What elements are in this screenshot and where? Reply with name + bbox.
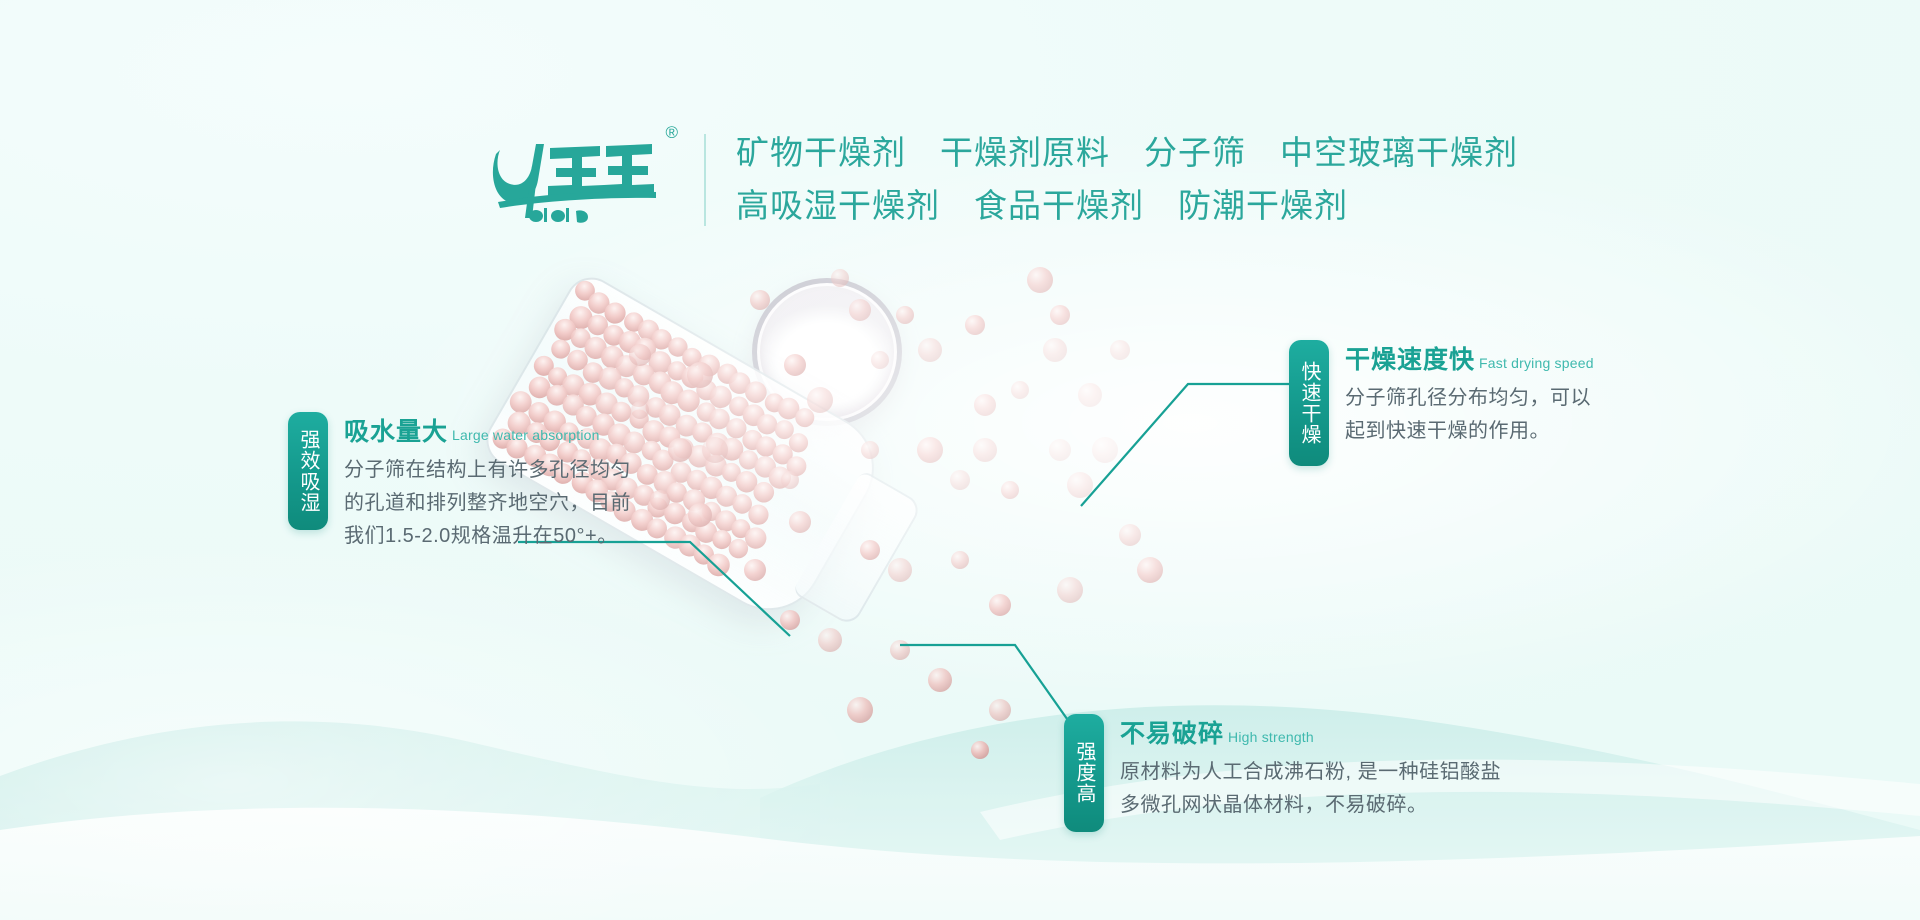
registered-mark: ® [665, 124, 678, 141]
callout-body-line: 的孔道和排列整齐地空穴，目前 [344, 487, 631, 520]
callout-body-line: 我们1.5-2.0规格温升在50°+。 [344, 520, 631, 553]
callout-title-en: Fast drying speed [1479, 355, 1594, 371]
yaao-logo[interactable]: ® [492, 128, 662, 224]
header-divider [704, 134, 706, 226]
callout-title-cn: 吸水量大 [344, 412, 448, 448]
callout-body-line: 多微孔网状晶体材料，不易破碎。 [1120, 789, 1501, 822]
badge-high-strength: 强度高 [1064, 714, 1104, 832]
callout-body-line: 分子筛孔径分布均匀，可以 [1345, 382, 1594, 415]
callout-title-en: Large water absorption [452, 427, 600, 443]
banner-header: ® 矿物干燥剂 干燥剂原料 分子筛 中空玻璃干燥剂 高吸湿干燥剂 食品干燥剂 防… [0, 0, 1920, 260]
callout-body-line: 起到快速干燥的作用。 [1345, 415, 1594, 448]
callout-title-en: High strength [1228, 729, 1314, 745]
logo-mark [492, 128, 662, 224]
header-keywords: 矿物干燥剂 干燥剂原料 分子筛 中空玻璃干燥剂 高吸湿干燥剂 食品干燥剂 防潮干… [736, 126, 1636, 232]
callout-title-cn: 不易破碎 [1120, 714, 1224, 750]
keyword-line-1: 矿物干燥剂 干燥剂原料 分子筛 中空玻璃干燥剂 [736, 126, 1636, 179]
badge-fast-drying: 快速干燥 [1289, 340, 1329, 466]
callout-body-line: 分子筛在结构上有许多孔径均匀 [344, 454, 631, 487]
keyword-line-2: 高吸湿干燥剂 食品干燥剂 防潮干燥剂 [736, 179, 1636, 232]
callout-large-water-absorption: 强效吸湿 吸水量大 Large water absorption 分子筛在结构上… [288, 412, 631, 553]
product-banner: ® 矿物干燥剂 干燥剂原料 分子筛 中空玻璃干燥剂 高吸湿干燥剂 食品干燥剂 防… [0, 0, 1920, 920]
callout-title-cn: 干燥速度快 [1345, 340, 1475, 376]
callout-high-strength: 强度高 不易破碎 High strength 原材料为人工合成沸石粉, 是一种硅… [1064, 714, 1501, 832]
callout-fast-drying-speed: 快速干燥 干燥速度快 Fast drying speed 分子筛孔径分布均匀，可… [1289, 340, 1594, 466]
badge-strong-moisture-absorption: 强效吸湿 [288, 412, 328, 530]
callout-body-line: 原材料为人工合成沸石粉, 是一种硅铝酸盐 [1120, 756, 1501, 789]
